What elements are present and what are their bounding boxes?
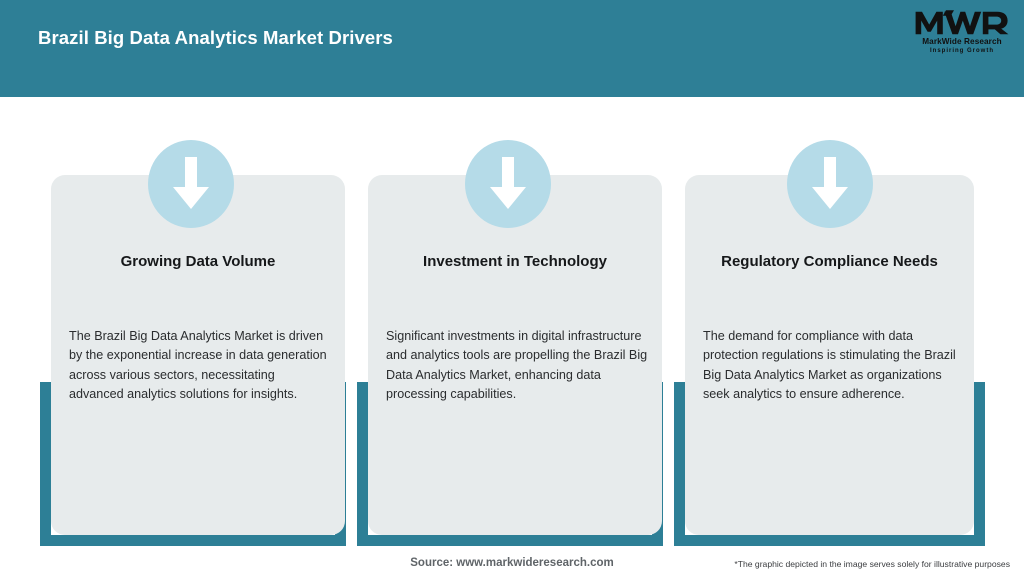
page-title: Brazil Big Data Analytics Market Drivers (38, 27, 393, 49)
arrow-down-icon (171, 157, 211, 211)
card-body-2: Significant investments in digital infra… (386, 327, 648, 405)
card-panel-3[interactable]: Regulatory Compliance Needs The demand f… (685, 175, 974, 535)
arrow-down-icon (488, 157, 528, 211)
brand-logo: MarkWide Research Inspiring Growth (914, 8, 1010, 60)
card-title-1: Growing Data Volume (61, 253, 335, 271)
arrow-down-icon (810, 157, 850, 211)
card-title-2: Investment in Technology (378, 253, 652, 271)
card-panel-2[interactable]: Investment in Technology Significant inv… (368, 175, 662, 535)
arrow-down-icon-circle-3 (787, 140, 873, 228)
card-body-3: The demand for compliance with data prot… (703, 327, 960, 405)
arrow-down-icon-circle-2 (465, 140, 551, 228)
arrow-down-icon-circle-1 (148, 140, 234, 228)
card-body-1: The Brazil Big Data Analytics Market is … (69, 327, 331, 405)
logo-company-name: MarkWide Research (914, 37, 1010, 47)
card-title-3: Regulatory Compliance Needs (695, 253, 964, 271)
card-panel-1[interactable]: Growing Data Volume The Brazil Big Data … (51, 175, 345, 535)
mwr-wordmark-icon (914, 8, 1010, 38)
infographic-canvas: Brazil Big Data Analytics Market Drivers… (0, 0, 1024, 576)
logo-tagline: Inspiring Growth (914, 47, 1010, 55)
disclaimer-label: *The graphic depicted in the image serve… (734, 559, 1010, 569)
